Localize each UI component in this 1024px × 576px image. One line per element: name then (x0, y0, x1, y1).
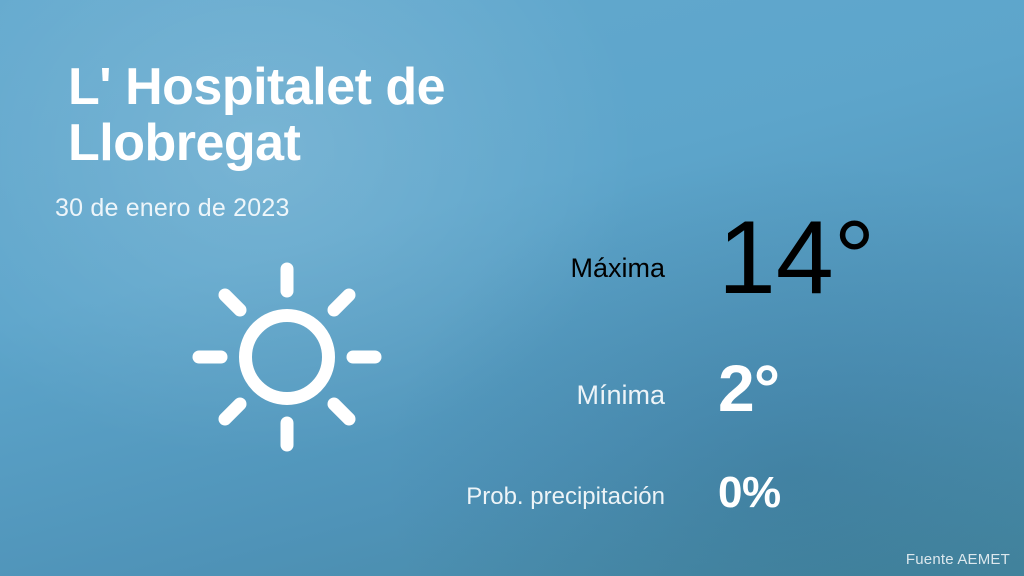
forecast-date: 30 de enero de 2023 (55, 194, 290, 223)
page-title: L' Hospitalet de Llobregat (68, 60, 628, 171)
sun-icon (180, 250, 394, 464)
reading-label-minima: Mínima (576, 380, 665, 411)
weather-card: L' Hospitalet de Llobregat 30 de enero d… (0, 0, 1024, 576)
reading-label-precipitacion: Prob. precipitación (466, 483, 665, 511)
reading-value-minima: 2° (718, 355, 779, 421)
background-glow-bottom (384, 156, 1024, 576)
reading-value-maxima: 14° (718, 206, 875, 310)
source-credit: Fuente AEMET (906, 551, 1010, 568)
reading-label-maxima: Máxima (570, 253, 665, 284)
reading-value-precipitacion: 0% (718, 471, 781, 515)
